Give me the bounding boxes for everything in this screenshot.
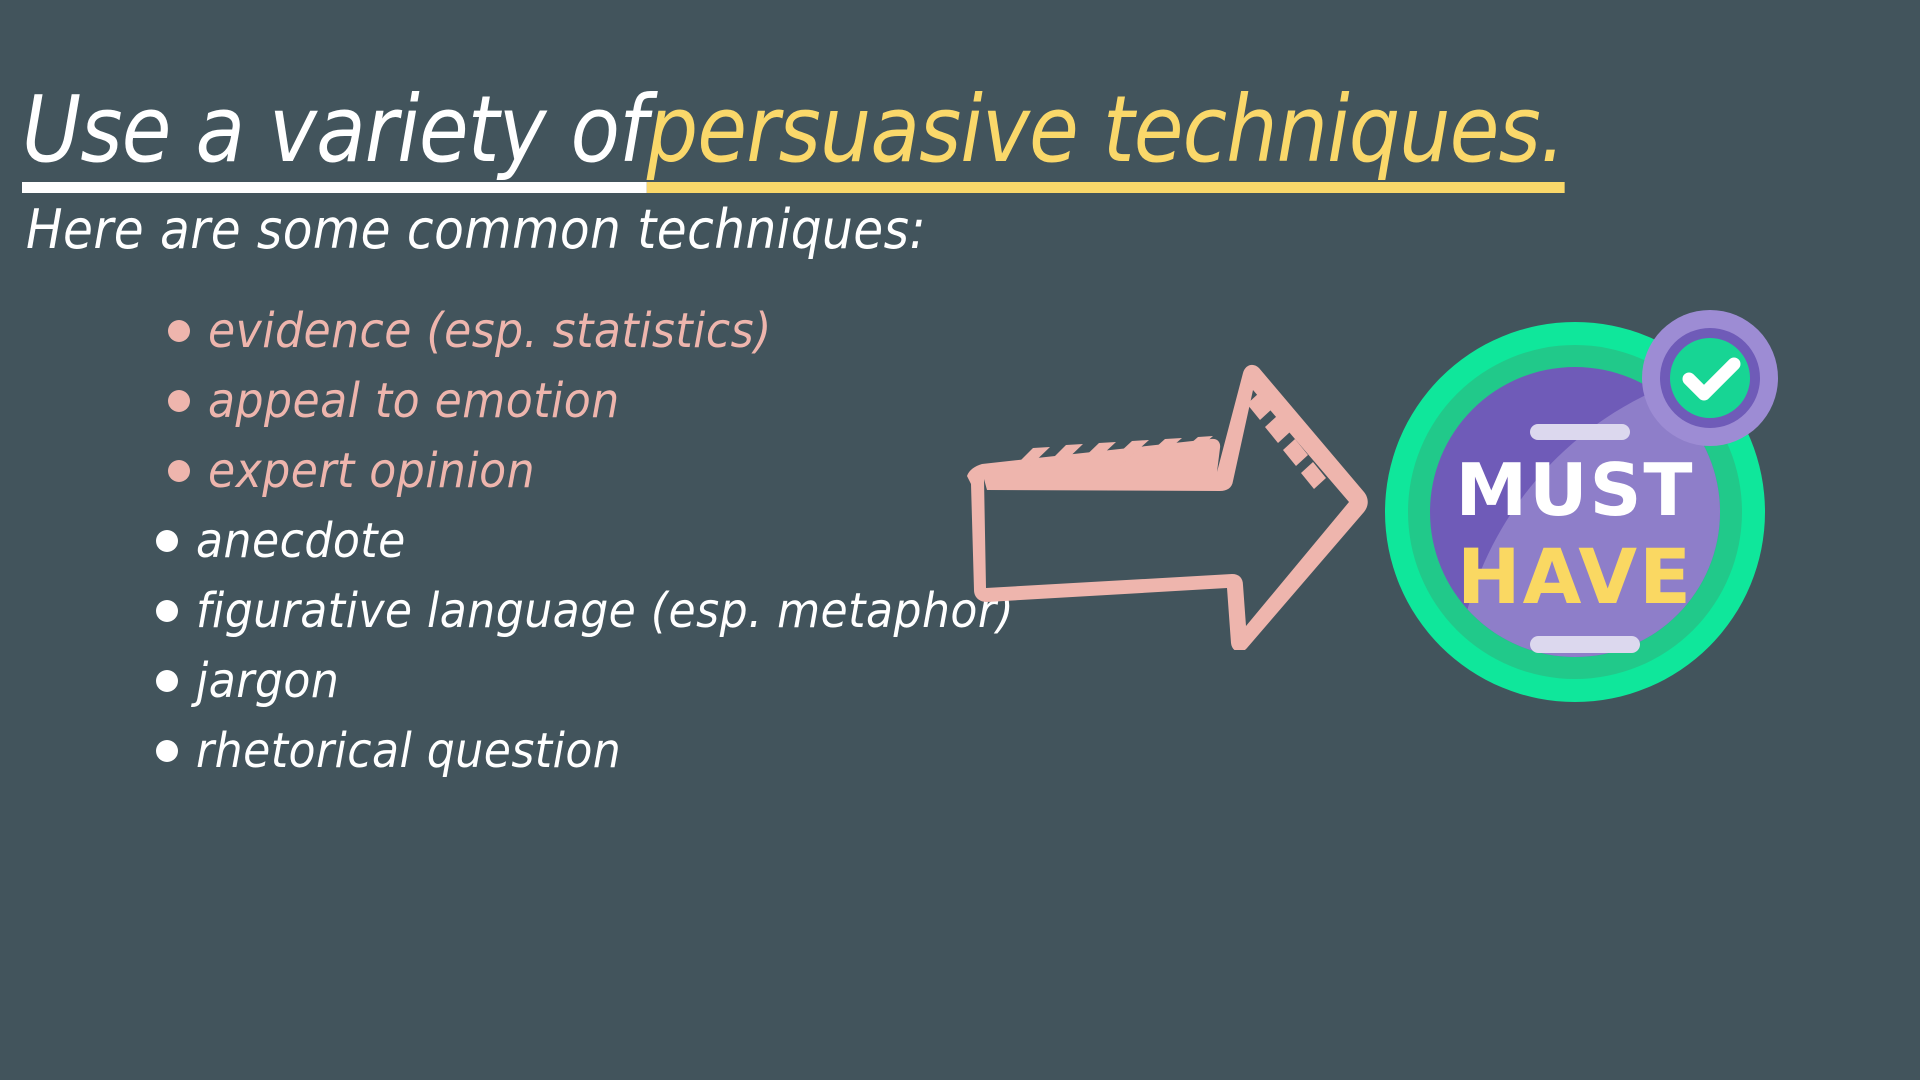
- slide-canvas: Use a variety of persuasive techniques. …: [0, 0, 1920, 1080]
- list-item: figurative language (esp. metaphor): [150, 576, 1050, 646]
- bullet-dot-icon: [156, 600, 178, 622]
- list-item-label: rhetorical question: [196, 727, 621, 775]
- badge-top-bar: [1530, 424, 1630, 440]
- list-item: rhetorical question: [150, 716, 1050, 786]
- list-item: evidence (esp. statistics): [150, 296, 1050, 366]
- list-item-label: evidence (esp. statistics): [208, 307, 772, 355]
- title-white-segment: Use a variety of: [22, 80, 647, 193]
- technique-list: evidence (esp. statistics) appeal to emo…: [150, 296, 1050, 786]
- badge-line-one: MUST: [1455, 448, 1694, 532]
- title-yellow-segment: persuasive techniques.: [647, 80, 1565, 193]
- bullet-dot-icon: [168, 320, 190, 342]
- bullet-dot-icon: [156, 530, 178, 552]
- bullet-dot-icon: [156, 740, 178, 762]
- list-item-label: jargon: [196, 657, 339, 705]
- list-item-label: anecdote: [196, 517, 406, 565]
- list-item: expert opinion: [150, 436, 1050, 506]
- check-mark-icon: [1642, 310, 1778, 446]
- list-item: appeal to emotion: [150, 366, 1050, 436]
- list-item: anecdote: [150, 506, 1050, 576]
- list-item-label: expert opinion: [208, 447, 535, 495]
- bullet-dot-icon: [156, 670, 178, 692]
- intro-text: Here are some common techniques:: [26, 198, 926, 261]
- list-item-label: appeal to emotion: [208, 377, 620, 425]
- bullet-dot-icon: [168, 460, 190, 482]
- sketch-right-arrow-icon: [955, 360, 1375, 650]
- page-title: Use a variety of persuasive techniques.: [22, 80, 1565, 193]
- bullet-dot-icon: [168, 390, 190, 412]
- badge-line-two: HAVE: [1457, 532, 1693, 621]
- badge-bottom-bar: [1530, 636, 1640, 653]
- list-item: jargon: [150, 646, 1050, 716]
- must-have-badge-icon: MUST HAVE: [1385, 300, 1805, 720]
- list-item-label: figurative language (esp. metaphor): [196, 587, 1014, 635]
